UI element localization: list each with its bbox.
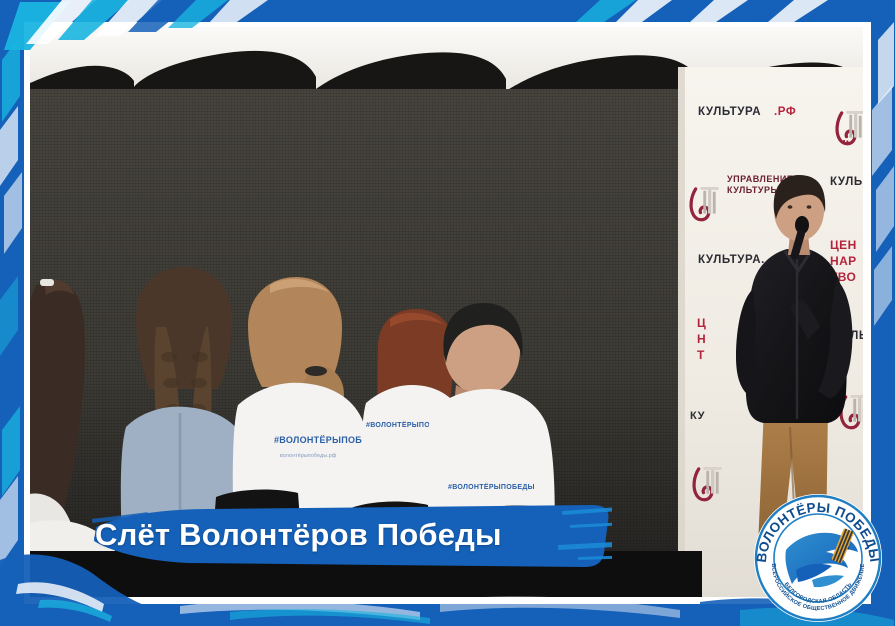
svg-text:НАР: НАР (830, 254, 857, 268)
brush-streaks-top-right (576, 0, 872, 22)
poster-card: КУЛЬТУРА .РФ УПРАВЛЕНИЕ (0, 0, 895, 626)
svg-text:КУЛЬТУРА.: КУЛЬТУРА. (698, 254, 765, 266)
press-wall-logo-kultura-rf: КУЛЬТУРА .РФ (698, 106, 796, 118)
caption-title: Слёт Волонтёров Победы (95, 517, 565, 553)
svg-text:Т: Т (697, 348, 705, 362)
emblem-graphic: ВОЛОНТЁРЫ ПОБЕДЫ ВСЕРОССИЙСКОЕ ОБЩЕСТВЕН… (752, 492, 884, 624)
brush-streaks-bottom (180, 596, 680, 624)
brush-streaks-right (872, 22, 894, 326)
tshirt-print-5: #ВОЛОНТЁРЫПОБЕДЫ (448, 483, 535, 491)
svg-text:Ц: Ц (697, 316, 706, 330)
frame-left-band (0, 0, 24, 626)
frame-top-band (0, 0, 895, 22)
press-wall-left-shadow (678, 67, 685, 597)
svg-text:ЦЕН: ЦЕН (830, 238, 857, 252)
svg-text:Н: Н (697, 332, 706, 346)
press-wall-logo-kult-left-3: КУ (690, 410, 705, 422)
press-wall-logo-kultura-2: КУЛЬТУРА. (698, 254, 765, 266)
hair-clip (40, 279, 54, 286)
hair-tie (305, 366, 327, 376)
brush-streaks-left (0, 36, 22, 566)
volunteers-of-victory-emblem: ВОЛОНТЁРЫ ПОБЕДЫ ВСЕРОССИЙСКОЕ ОБЩЕСТВЕН… (752, 492, 884, 624)
press-wall-logo-kult-right: КУЛЬ (830, 176, 863, 188)
svg-text:КУЛЬТУРЫ: КУЛЬТУРЫ (727, 185, 780, 195)
svg-text:волонтёрыпобеды.рф: волонтёрыпобеды.рф (280, 453, 336, 459)
svg-text:КУЛЬТУРА: КУЛЬТУРА (698, 106, 761, 118)
svg-text:.РФ: .РФ (774, 106, 796, 118)
